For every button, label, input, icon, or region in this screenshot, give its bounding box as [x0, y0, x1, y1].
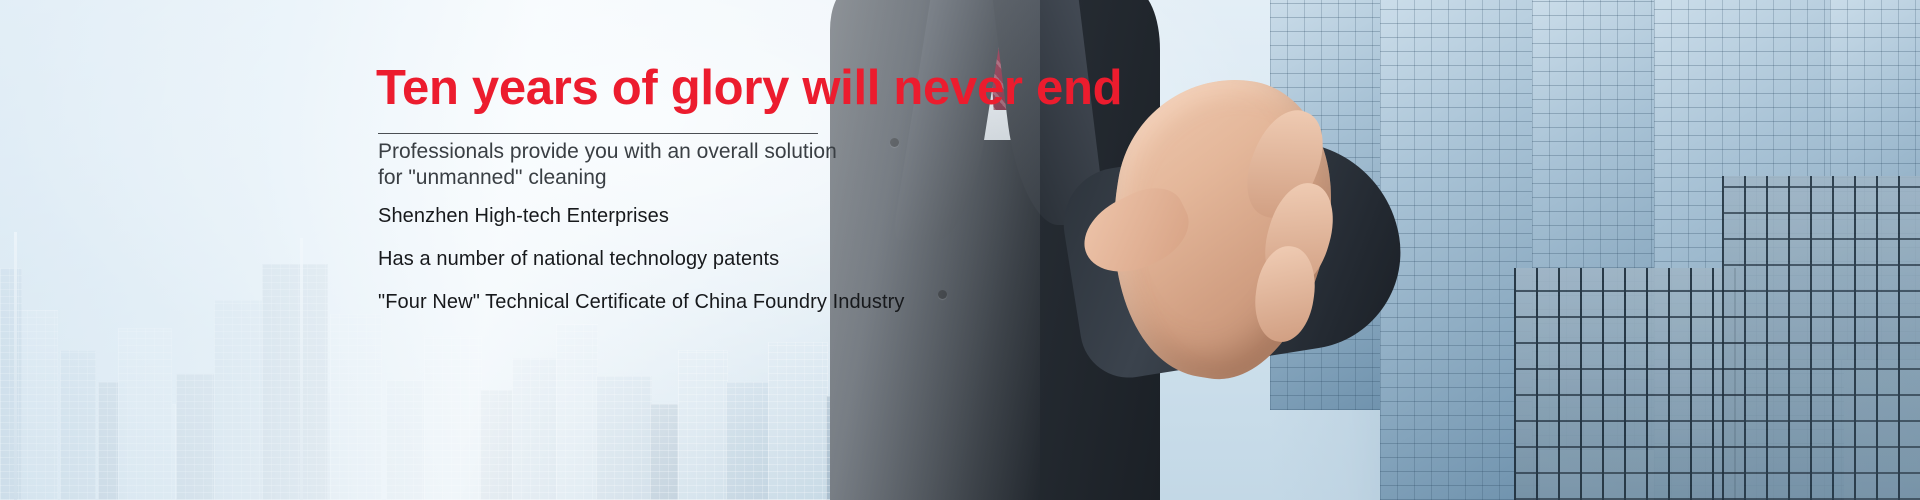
feature-item-2: Has a number of national technology pate… [378, 249, 905, 269]
subtitle-line-1: Professionals provide you with an overal… [378, 139, 837, 165]
feature-item-1: Shenzhen High-tech Enterprises [378, 206, 905, 226]
feature-item-3: "Four New" Technical Certificate of Chin… [378, 292, 905, 312]
banner-subtitle: Professionals provide you with an overal… [378, 139, 837, 190]
headline-divider [378, 133, 818, 134]
subtitle-line-2: for "unmanned" cleaning [378, 165, 837, 191]
banner-headline: Ten years of glory will never end [376, 62, 1122, 116]
feature-list: Shenzhen High-tech Enterprises Has a num… [378, 206, 905, 335]
hero-banner: Ten years of glory will never end Profes… [0, 0, 1920, 500]
banner-copy: Ten years of glory will never end Profes… [376, 0, 1076, 500]
